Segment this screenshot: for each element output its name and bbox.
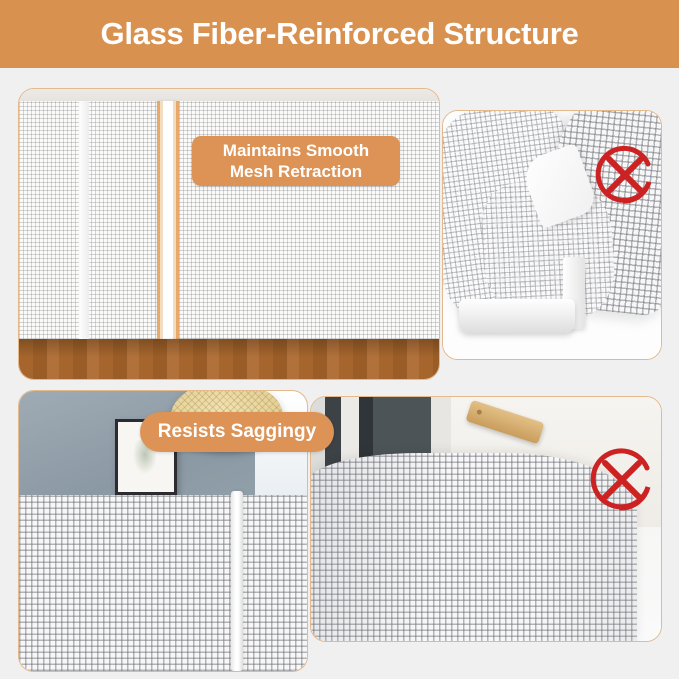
label-line-1: Maintains Smooth	[223, 140, 369, 161]
mesh-texture	[19, 495, 307, 671]
page-header: Glass Fiber-Reinforced Structure	[0, 0, 679, 68]
label-line-1: Resists Saggingy	[158, 421, 316, 443]
screen-base	[459, 299, 575, 333]
mesh-retraction-track	[157, 101, 179, 339]
handle-screw	[476, 409, 482, 415]
screen-side-post	[79, 101, 89, 347]
page-title: Glass Fiber-Reinforced Structure	[101, 16, 579, 52]
wooden-floor	[19, 339, 439, 379]
circle-x-icon	[592, 142, 658, 208]
screen-pull-bar	[231, 491, 243, 671]
circle-x-icon	[586, 444, 658, 516]
label-maintains-smooth-mesh-retraction: Maintains Smooth Mesh Retraction	[192, 136, 400, 186]
panel-bad-sagging-mesh	[310, 396, 662, 642]
mesh-screen-flat	[19, 495, 307, 671]
label-line-2: Mesh Retraction	[230, 161, 362, 182]
panel-good-retraction	[18, 88, 440, 380]
label-resists-saggingy: Resists Saggingy	[140, 412, 334, 452]
